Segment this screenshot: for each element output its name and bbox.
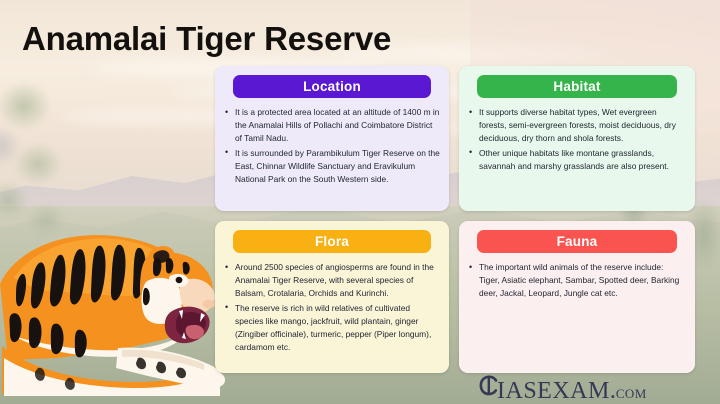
list-item: Other unique habitats like montane grass… <box>468 147 686 173</box>
list-item: It is surrounded by Parambikulum Tiger R… <box>224 147 440 187</box>
list-item: Around 2500 species of angiosperms are f… <box>224 261 440 301</box>
list-item: It is a protected area located at an alt… <box>224 106 440 146</box>
list-item: It supports diverse habitat types, Wet e… <box>468 106 686 146</box>
card-habitat-bullets: It supports diverse habitat types, Wet e… <box>468 106 686 173</box>
card-habitat-heading: Habitat <box>477 75 677 98</box>
card-fauna: Fauna The important wild animals of the … <box>459 221 695 373</box>
list-item: The reserve is rich in wild relatives of… <box>224 302 440 355</box>
watermark-text: IASEXAM <box>497 378 610 404</box>
card-fauna-bullets: The important wild animals of the reserv… <box>468 261 686 301</box>
card-location: Location It is a protected area located … <box>215 66 449 211</box>
card-habitat: Habitat It supports diverse habitat type… <box>459 66 695 211</box>
iasexam-logo-icon <box>478 374 500 398</box>
card-fauna-heading: Fauna <box>477 230 677 253</box>
card-location-bullets: It is a protected area located at an alt… <box>224 106 440 186</box>
card-flora: Flora Around 2500 species of angiosperms… <box>215 221 449 373</box>
watermark-iasexam: IASEXAM . COM <box>478 374 647 404</box>
card-location-heading: Location <box>233 75 431 98</box>
watermark-suffix: COM <box>616 386 647 402</box>
page-title: Anamalai Tiger Reserve <box>22 20 391 58</box>
card-flora-bullets: Around 2500 species of angiosperms are f… <box>224 261 440 354</box>
tiger-illustration <box>0 218 228 404</box>
card-flora-heading: Flora <box>233 230 431 253</box>
list-item: The important wild animals of the reserv… <box>468 261 686 301</box>
